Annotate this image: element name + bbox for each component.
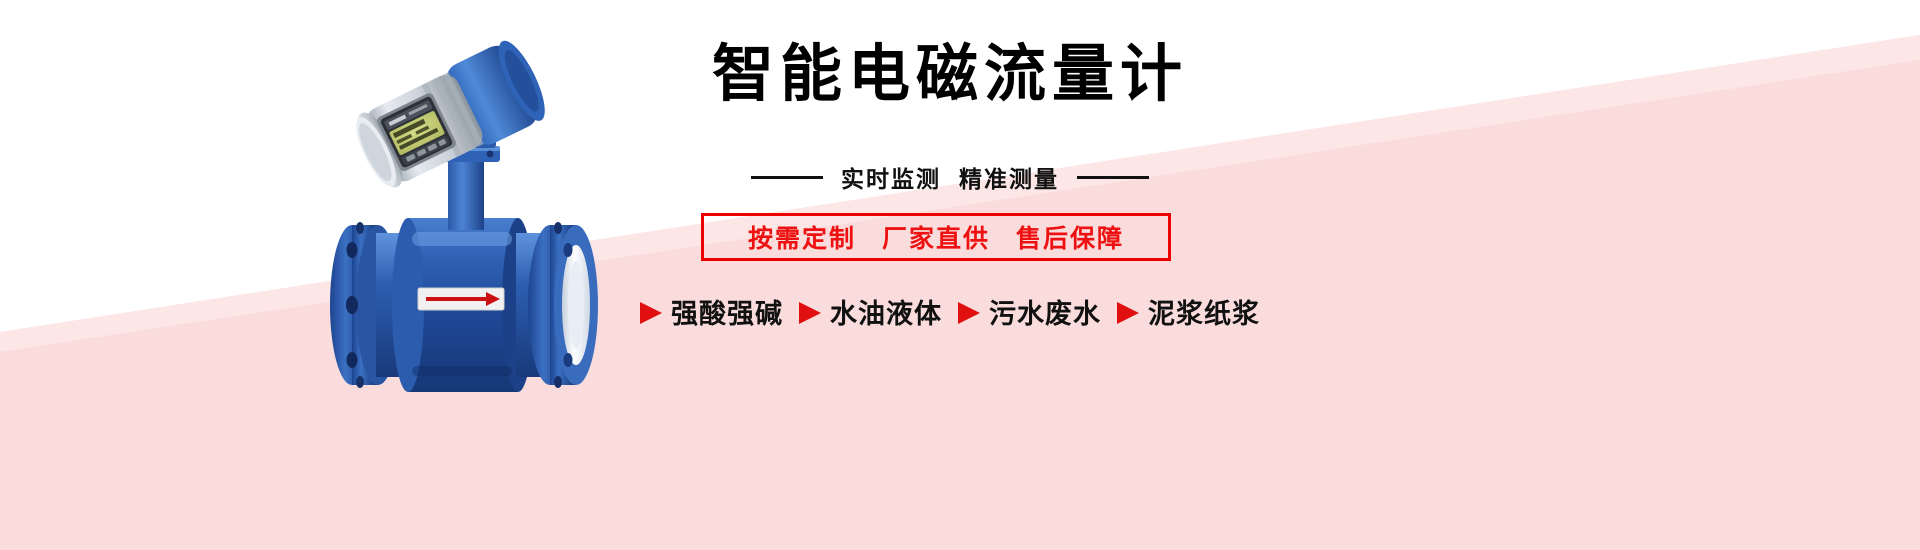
- triangle-right-icon: [1117, 302, 1139, 324]
- banner-title: 智能电磁流量计: [600, 42, 1300, 107]
- promo-box: 按需定制 厂家直供 售后保障: [701, 213, 1171, 261]
- feature-item-4: 泥浆纸浆: [1117, 292, 1260, 331]
- subtitle-text-left: 实时监测: [841, 160, 941, 194]
- product-illustration: [300, 0, 640, 470]
- feature-label-4: 泥浆纸浆: [1148, 292, 1260, 331]
- triangle-right-icon: [958, 302, 980, 324]
- subtitle-rule-left: [751, 176, 823, 179]
- feature-item-1: 强酸强碱: [640, 292, 783, 331]
- promo-item-3: 售后保障: [1016, 219, 1124, 255]
- banner-text-column: 智能电磁流量计 实时监测 精准测量 按需定制 厂家直供 售后保障 强酸强碱 水油…: [600, 0, 1300, 550]
- triangle-right-icon: [799, 302, 821, 324]
- triangle-right-icon: [640, 302, 662, 324]
- promo-banner: 智能电磁流量计 实时监测 精准测量 按需定制 厂家直供 售后保障 强酸强碱 水油…: [0, 0, 1920, 550]
- feature-item-3: 污水废水: [958, 292, 1101, 331]
- feature-label-2: 水油液体: [830, 292, 942, 331]
- banner-subtitle: 实时监测 精准测量: [600, 160, 1300, 194]
- feature-label-1: 强酸强碱: [671, 292, 783, 331]
- subtitle-text-right: 精准测量: [959, 160, 1059, 194]
- promo-item-2: 厂家直供: [882, 219, 990, 255]
- subtitle-rule-right: [1077, 176, 1149, 179]
- feature-item-2: 水油液体: [799, 292, 942, 331]
- promo-item-1: 按需定制: [748, 219, 856, 255]
- feature-list: 强酸强碱 水油液体 污水废水 泥浆纸浆: [600, 292, 1300, 331]
- feature-label-3: 污水废水: [989, 292, 1101, 331]
